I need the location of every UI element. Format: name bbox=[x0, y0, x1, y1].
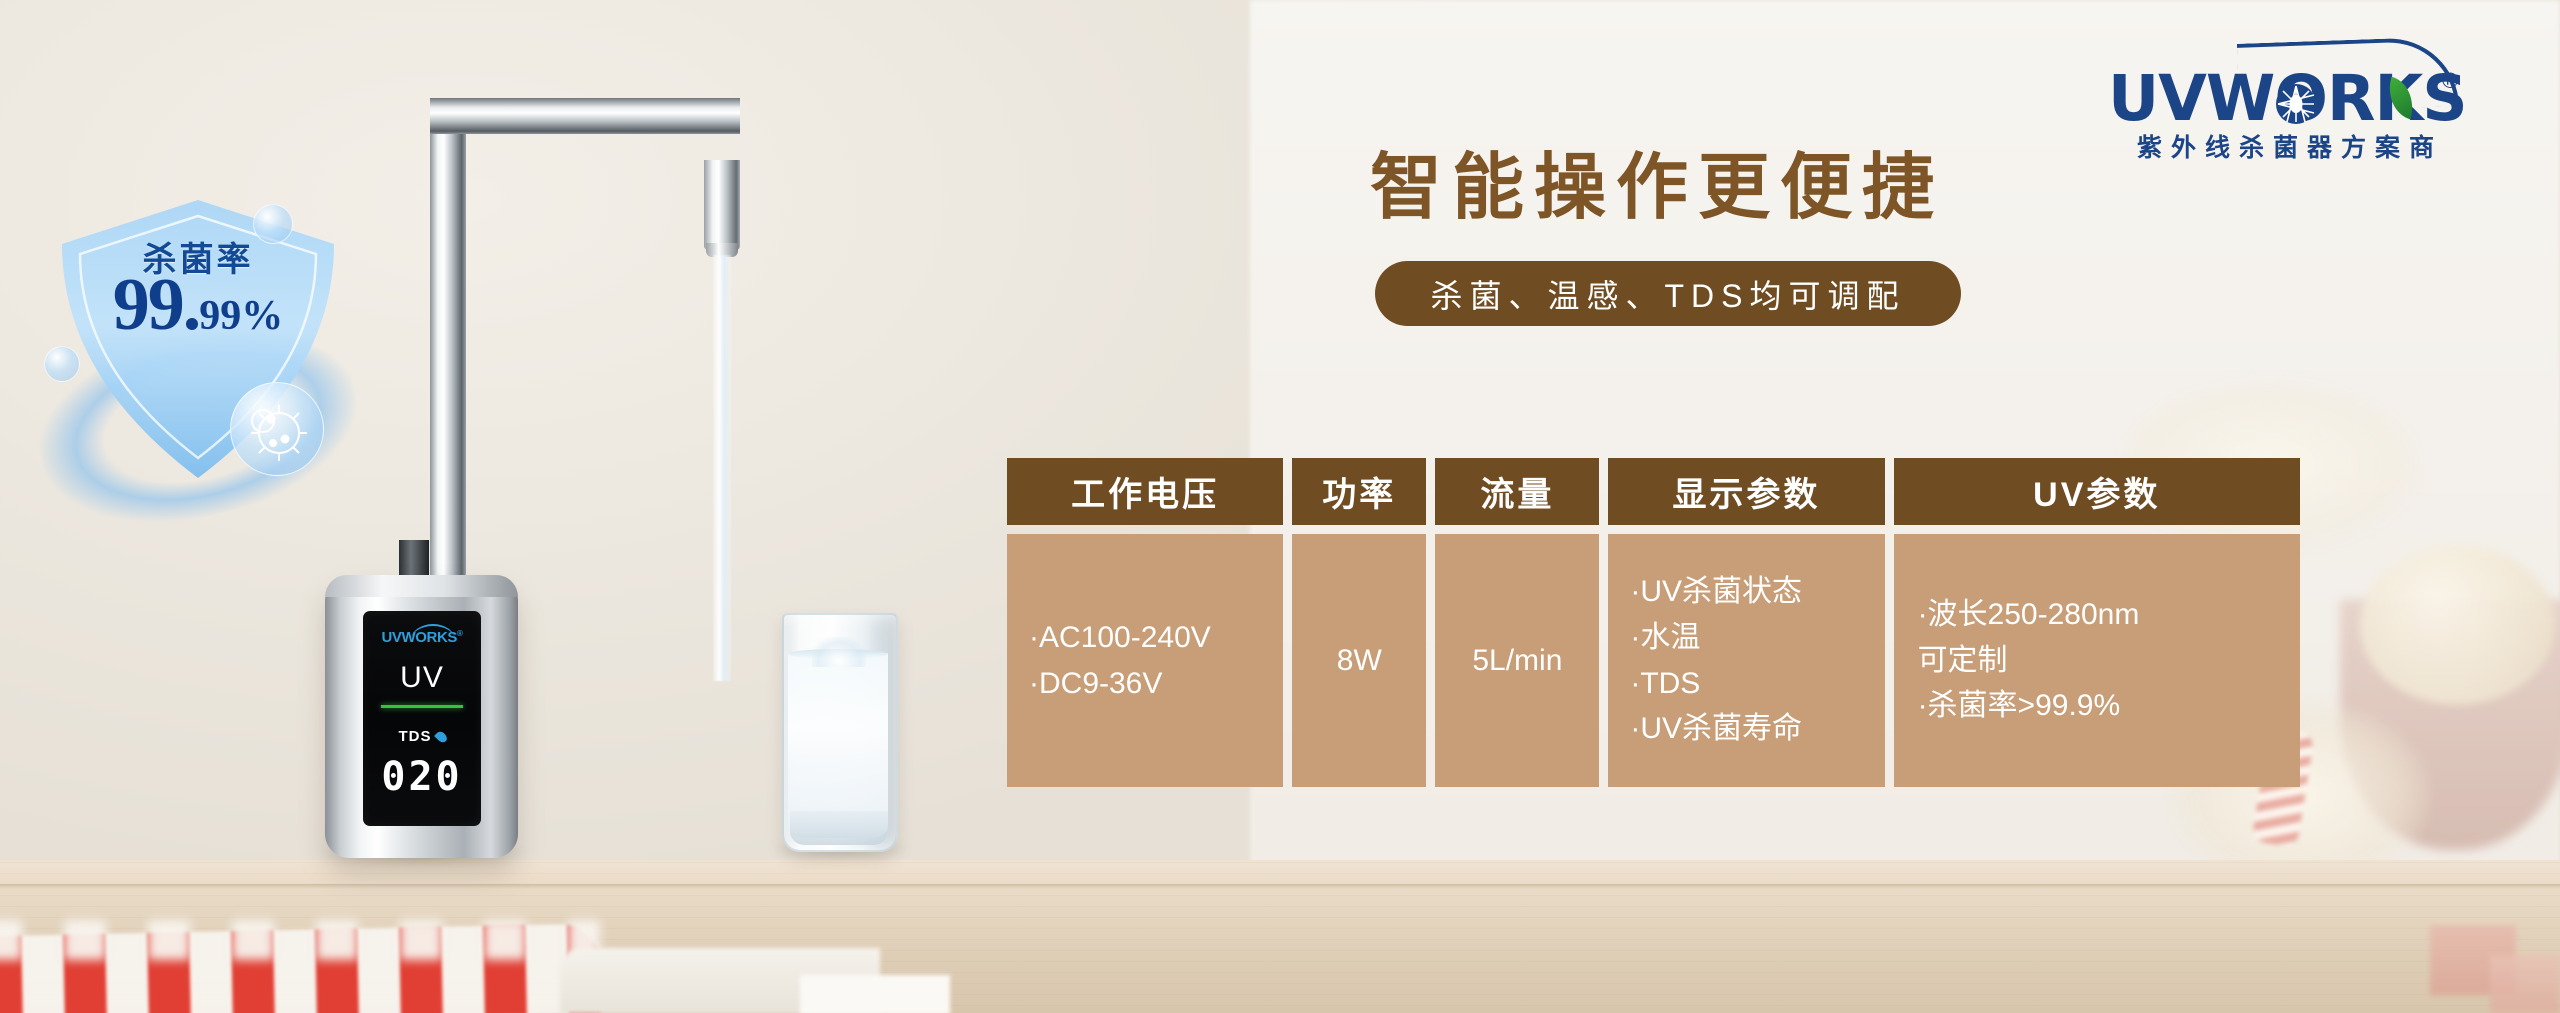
sterilization-rate-badge: 杀菌率 99.99% bbox=[48, 186, 348, 491]
checkered-cloth-edge bbox=[0, 920, 600, 960]
spec-table: 工作电压 ·AC100-240V ·DC9-36V 功率 8W 流量 5L/mi… bbox=[1007, 458, 2300, 787]
spec-cell-uv: ·波长250-280nm 可定制 ·杀菌率>99.9% bbox=[1894, 534, 2300, 787]
faucet-left-pipe bbox=[430, 115, 466, 625]
screen-logo-text: UVWORKS bbox=[381, 629, 457, 646]
spec-line: ·UV杀菌寿命 bbox=[1630, 706, 1884, 752]
spec-line: 可定制 bbox=[1918, 638, 2300, 684]
spec-column-uv: UV参数 ·波长250-280nm 可定制 ·杀菌率>99.9% bbox=[1894, 458, 2300, 787]
yarn-ball bbox=[2360, 545, 2555, 705]
water-drop-icon bbox=[434, 730, 449, 745]
pink-block-right bbox=[2490, 955, 2560, 1013]
water-glass bbox=[782, 613, 898, 852]
spec-column-flow: 流量 5L/min bbox=[1435, 458, 1599, 787]
spec-column-display: 显示参数 ·UV杀菌状态 ·水温 ·TDS ·UV杀菌寿命 bbox=[1608, 458, 1884, 787]
screen-tds-row: TDS bbox=[363, 728, 481, 745]
spec-header-power: 功率 bbox=[1292, 458, 1426, 525]
spec-line: ·杀菌率>99.9% bbox=[1918, 683, 2300, 729]
screen-logo-registered: ® bbox=[457, 629, 463, 638]
faucet bbox=[410, 55, 850, 625]
spec-line: ·UV杀菌状态 bbox=[1630, 569, 1884, 615]
badge-value: 99.99% bbox=[48, 268, 348, 342]
spec-cell-display: ·UV杀菌状态 ·水温 ·TDS ·UV杀菌寿命 bbox=[1608, 534, 1884, 787]
device-top-cap bbox=[325, 575, 518, 597]
spec-line: 8W bbox=[1337, 638, 1382, 684]
spec-line: ·波长250-280nm bbox=[1918, 592, 2300, 638]
white-cloth-corner bbox=[800, 975, 950, 1013]
water-stream bbox=[713, 255, 731, 681]
logo-registered-icon: ® bbox=[2442, 68, 2458, 94]
uv-sterilizer-device: UVWORKS® UV TDS 020 bbox=[325, 575, 518, 858]
page-title: 智能操作更便捷 bbox=[1370, 128, 1970, 233]
logo-tagline: 紫外线杀菌器方案商 bbox=[2108, 128, 2472, 164]
spec-line: 5L/min bbox=[1472, 638, 1562, 684]
bubble-icon-top bbox=[253, 204, 293, 244]
spec-cell-power: 8W bbox=[1292, 534, 1426, 787]
spec-line: ·DC9-36V bbox=[1029, 661, 1283, 707]
device-screen[interactable]: UVWORKS® UV TDS 020 bbox=[363, 611, 481, 826]
sunburst-icon bbox=[2275, 83, 2317, 125]
screen-logo: UVWORKS® bbox=[363, 629, 481, 646]
germ-bubble bbox=[230, 382, 324, 476]
brand-logo: UVWORKS ® 紫外线杀菌器方案商 bbox=[2090, 38, 2490, 160]
screen-tds-value: 020 bbox=[363, 754, 481, 800]
product-banner: 杀菌率 99.99% bbox=[0, 0, 2560, 1013]
spec-column-voltage: 工作电压 ·AC100-240V ·DC9-36V bbox=[1007, 458, 1283, 787]
spec-header-display: 显示参数 bbox=[1608, 458, 1884, 525]
screen-tds-label: TDS bbox=[399, 728, 432, 745]
glass-water-splash bbox=[812, 637, 866, 667]
screen-mode-label: UV bbox=[363, 661, 481, 695]
spec-header-uv: UV参数 bbox=[1894, 458, 2300, 525]
badge-value-big: 99. bbox=[113, 264, 200, 346]
screen-status-bar bbox=[381, 705, 463, 708]
faucet-spout bbox=[704, 160, 740, 250]
glass-base bbox=[790, 811, 888, 845]
spec-header-flow: 流量 bbox=[1435, 458, 1599, 525]
spec-cell-voltage: ·AC100-240V ·DC9-36V bbox=[1007, 534, 1283, 787]
germ-icon bbox=[231, 383, 323, 475]
spec-line: ·TDS bbox=[1630, 661, 1884, 707]
spec-cell-flow: 5L/min bbox=[1435, 534, 1599, 787]
spec-line: ·水温 bbox=[1630, 615, 1884, 661]
subtitle-pill: 杀菌、温感、TDS均可调配 bbox=[1375, 261, 1961, 326]
bubble-icon-left bbox=[44, 346, 80, 382]
spec-column-power: 功率 8W bbox=[1292, 458, 1426, 787]
badge-value-small: 99% bbox=[199, 293, 283, 339]
subtitle-text: 杀菌、温感、TDS均可调配 bbox=[1430, 271, 1905, 317]
spec-line: ·AC100-240V bbox=[1029, 615, 1283, 661]
spec-header-voltage: 工作电压 bbox=[1007, 458, 1283, 525]
